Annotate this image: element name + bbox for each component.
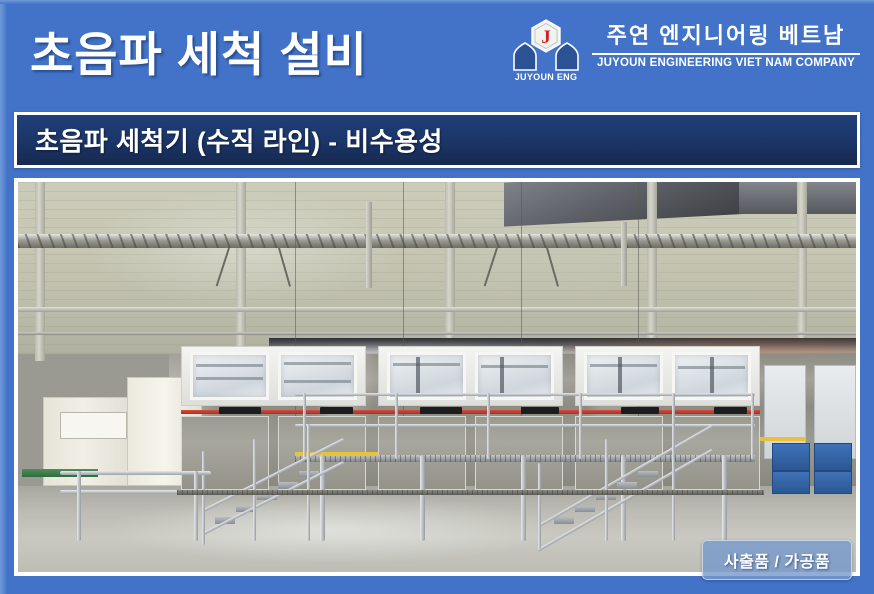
logo-caption: JUYOUN ENG [505,72,587,82]
photo-stair-tread [638,471,658,477]
photo-stair-tread [554,517,574,523]
photo-railing-post [487,393,490,459]
company-divider [592,53,860,55]
photo-railing-post [303,393,306,459]
status-badge-label: 사출품 / 가공품 [724,548,830,572]
photo-railing-mid [295,424,756,427]
photo-platform-leg [420,455,425,541]
left-edge-highlight [0,0,7,594]
photo-frame [14,178,860,576]
photo-label-plate [521,407,559,414]
photo-stair-tread [575,506,595,512]
photo-conveyor-rail [60,471,211,475]
subtitle-text: 초음파 세척기 (수직 라인) - 비수용성 [35,122,443,159]
company-name-english: JUYOUN ENGINEERING VIET NAM COMPANY [592,57,860,69]
photo-cabinet-panel [60,412,127,439]
photo-conveyor-leg [77,471,81,541]
photo-safety-marking [755,437,805,441]
photo-stair-post [672,408,675,541]
photo-stair-tread [617,482,637,488]
page-title: 초음파 세척 설비 [30,16,368,85]
photo-stair-post [307,424,310,541]
photo-label-plate [320,407,354,414]
photo-stair-post [538,463,541,549]
photo-blue-crate [772,471,810,494]
company-logo: J JUYOUN ENG [505,18,587,90]
company-name-block: 주연 엔지니어링 베트남 JUYOUN ENGINEERING VIET NAM… [592,22,860,69]
photo-tank-panel [672,416,760,490]
photo-blue-crate [772,443,810,470]
photo-railing-top [295,393,756,396]
slide-header: 초음파 세척 설비 J JUYOUN ENG 주연 엔지니어링 베트남 JUYO… [0,0,874,106]
photo-cable-tray-lattice [18,234,856,248]
company-name-korean: 주연 엔지니어링 베트남 [592,22,860,50]
juyoun-hexagon-logo: J [505,18,587,72]
photo-blue-crate [814,443,852,470]
photo-label-plate [621,407,659,414]
photo-hanger [621,222,627,286]
photo-railing-post [579,393,582,459]
photo-platform-leg [320,455,325,541]
photo-railing-post [751,393,754,459]
photo-floor-reflection [102,494,563,564]
slide-root: 초음파 세척 설비 J JUYOUN ENG 주연 엔지니어링 베트남 JUYO… [0,0,874,594]
photo-stair-post [202,451,205,545]
photo-beam [18,307,856,312]
photo-label-plate [420,407,462,414]
status-badge: 사출품 / 가공품 [702,540,852,580]
svg-text:J: J [541,27,551,48]
subtitle-bar: 초음파 세척기 (수직 라인) - 비수용성 [14,112,860,168]
photo-machine-base-grating [177,490,764,495]
photo-beam [18,332,856,335]
photo-blue-crate [814,471,852,494]
photo-conveyor-leg [194,471,198,541]
photo-inspection-window [190,352,270,401]
factory-photo [18,182,856,572]
photo-label-plate [714,407,748,414]
photo-label-plate [219,407,261,414]
photo-platform-leg [521,455,526,541]
photo-railing-post [395,393,398,459]
photo-platform-leg [722,455,727,541]
top-edge-highlight [0,0,874,4]
photo-hanger [366,202,372,288]
